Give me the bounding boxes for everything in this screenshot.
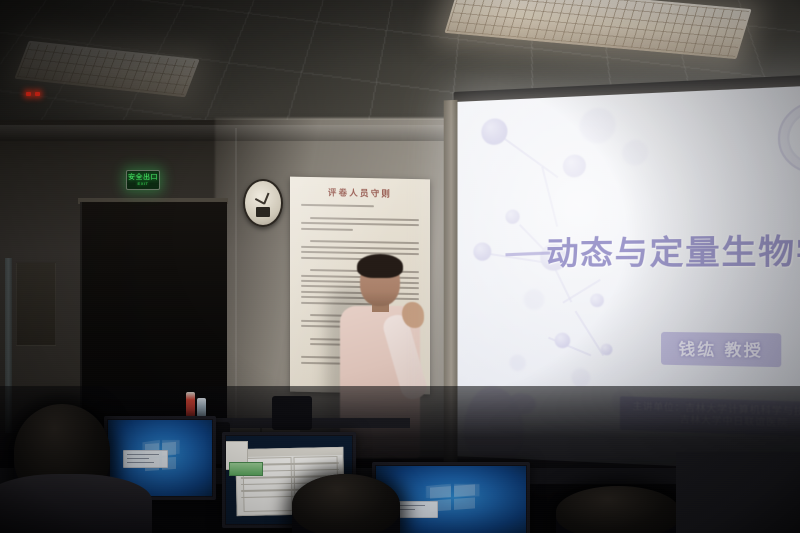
attendee-left-shoulders bbox=[0, 474, 152, 533]
panel-indicator-led-1 bbox=[26, 92, 31, 96]
wall-seam bbox=[235, 128, 237, 428]
water-bottle-red bbox=[186, 392, 195, 418]
exit-sign-chinese-label: 安全出口 bbox=[128, 174, 158, 181]
attendee-center bbox=[292, 474, 400, 533]
clock-date-window bbox=[256, 207, 270, 217]
attendee-center-hair bbox=[292, 474, 400, 533]
exit-sign-english-label: EXIT bbox=[138, 181, 149, 186]
attendee-right-hair bbox=[556, 486, 680, 533]
lecture-room-photo: 安全出口 EXIT 评卷人员守则 bbox=[0, 0, 800, 533]
panel-indicator-led-2 bbox=[35, 92, 40, 96]
analog-wall-clock bbox=[243, 179, 283, 227]
emergency-exit-sign: 安全出口 EXIT bbox=[126, 170, 160, 190]
presenter-hair bbox=[357, 254, 403, 278]
electrical-panel[interactable] bbox=[16, 262, 56, 346]
water-bottle-clear bbox=[197, 398, 206, 418]
chair-back-right bbox=[272, 396, 312, 430]
attendee-right bbox=[556, 486, 680, 533]
presenter-hand bbox=[402, 302, 424, 328]
slide-title: 动态与定量生物学 bbox=[546, 224, 800, 274]
side-cabinet bbox=[676, 452, 800, 533]
slide-speaker-name: 钱纮 教授 bbox=[661, 332, 782, 367]
